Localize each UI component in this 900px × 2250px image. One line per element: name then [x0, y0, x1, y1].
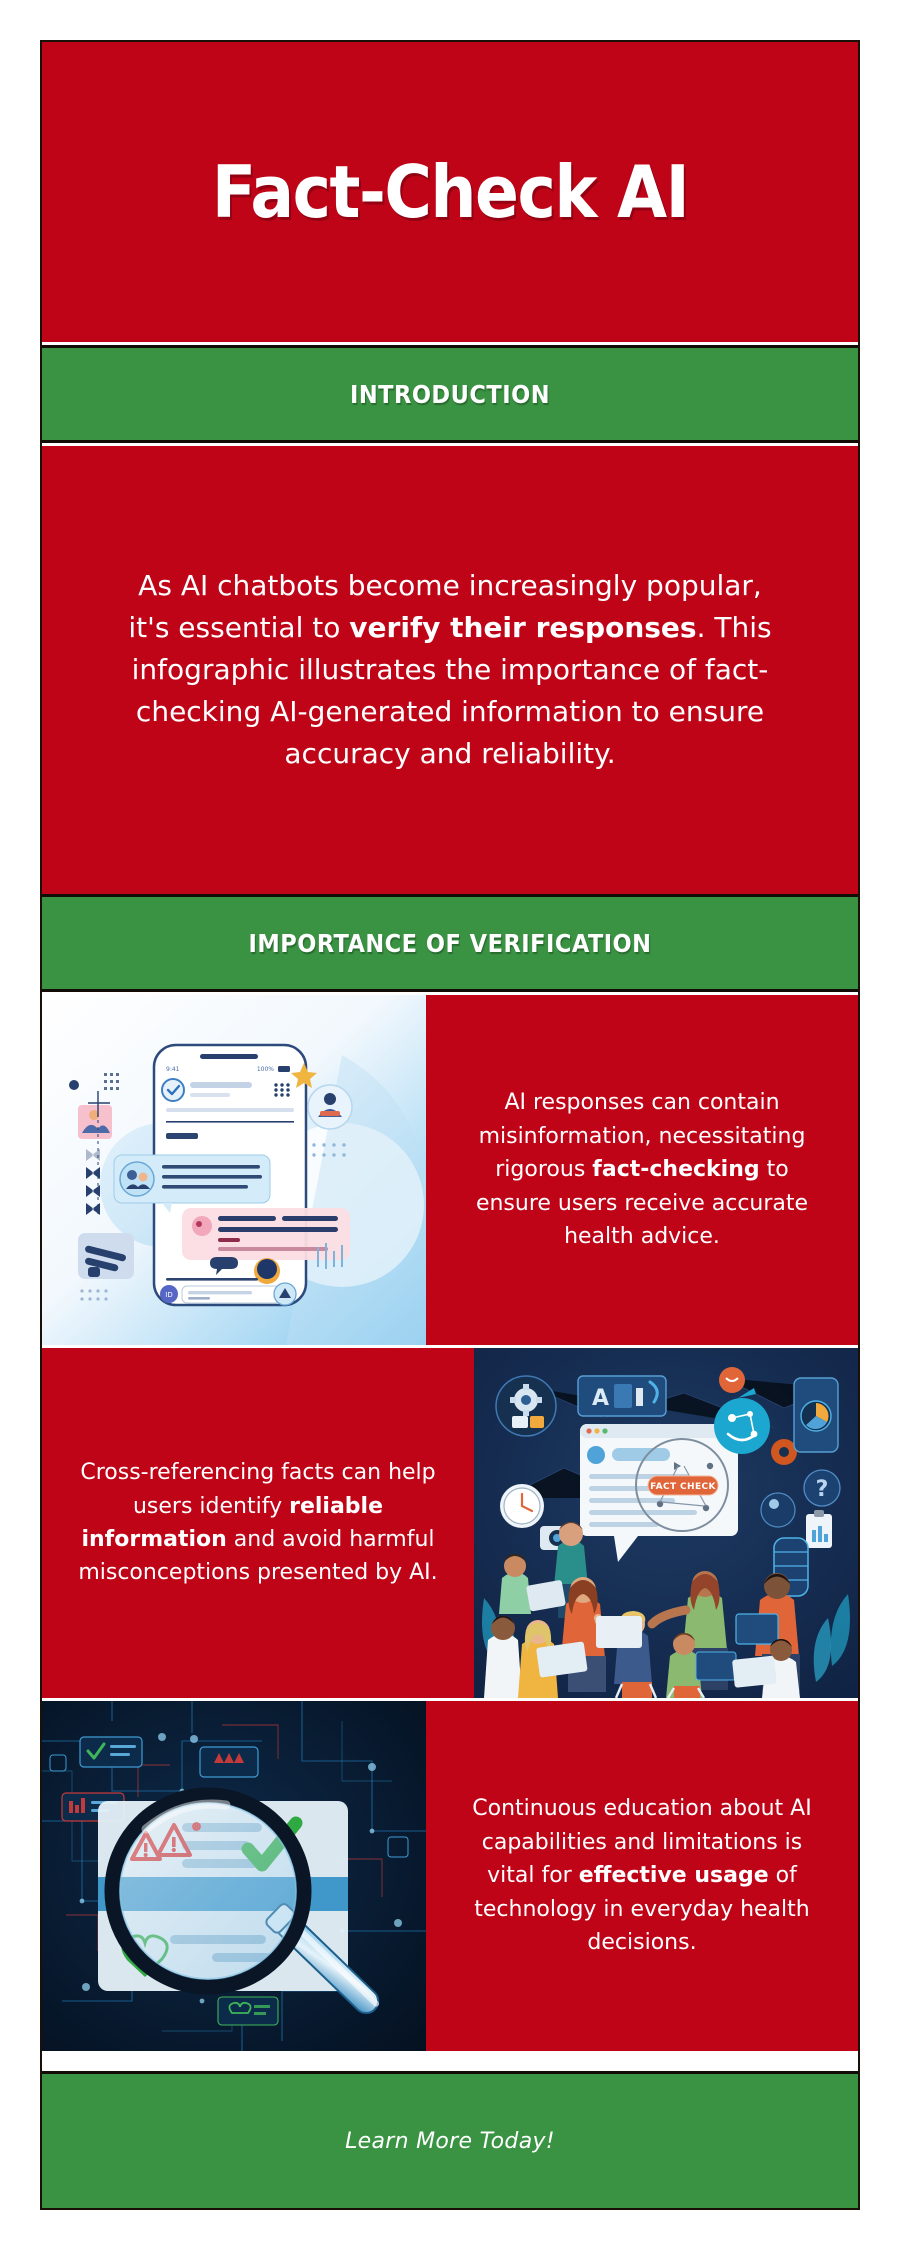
svg-text:A: A [592, 1386, 609, 1411]
cross-referencing-paragraph: Cross-referencing facts can help users i… [78, 1456, 438, 1590]
chatbot-phone-illustration-art: 9:41 100% [42, 995, 426, 1345]
poster-canvas: Fact-Check AI INTRODUCTION As AI chatbot… [42, 42, 858, 2208]
cross-referencing-text-panel: Cross-referencing facts can help users i… [42, 1348, 474, 1698]
content-row-cross-referencing: Cross-referencing facts can help users i… [42, 1348, 858, 1698]
team-fact-check-illustration-art: A [474, 1348, 858, 1698]
chatbot-phone-illustration: 9:41 100% [42, 995, 426, 1345]
section-header-introduction-label: INTRODUCTION [350, 380, 550, 409]
magnifier-verification-illustration-art [42, 1701, 426, 2051]
poster-frame: Fact-Check AI INTRODUCTION As AI chatbot… [40, 40, 860, 2210]
svg-text:100%: 100% [257, 1066, 274, 1073]
education-text-emphasis: effective usage [579, 1863, 769, 1888]
introduction-paragraph: As AI chatbots become increasingly popul… [120, 565, 780, 775]
section-header-importance: IMPORTANCE OF VERIFICATION [42, 894, 858, 992]
education-text-panel: Continuous education about AI capabiliti… [426, 1701, 858, 2051]
svg-text:FACT CHECK: FACT CHECK [650, 1482, 716, 1492]
misinformation-text-panel: AI responses can contain misinformation,… [426, 995, 858, 1345]
education-paragraph: Continuous education about AI capabiliti… [462, 1792, 822, 1959]
team-fact-check-illustration: A [474, 1348, 858, 1698]
svg-text:?: ? [816, 1477, 829, 1502]
content-row-education: Continuous education about AI capabiliti… [42, 1701, 858, 2051]
introduction-panel: As AI chatbots become increasingly popul… [42, 446, 858, 894]
infographic-root: Fact-Check AI INTRODUCTION As AI chatbot… [0, 0, 900, 2250]
section-header-importance-label: IMPORTANCE OF VERIFICATION [249, 929, 652, 958]
footer-cta-band[interactable]: Learn More Today! [42, 2071, 858, 2208]
page-title: Fact-Check AI [212, 156, 688, 228]
section-header-introduction: INTRODUCTION [42, 345, 858, 443]
misinformation-paragraph: AI responses can contain misinformation,… [462, 1086, 822, 1253]
footer-cta-label[interactable]: Learn More Today! [345, 2129, 555, 2154]
hero-banner: Fact-Check AI [42, 42, 858, 342]
introduction-text-emphasis: verify their responses [349, 611, 696, 644]
misinformation-text-emphasis: fact-checking [592, 1157, 759, 1182]
magnifier-verification-illustration [42, 1701, 426, 2051]
content-row-misinformation: 9:41 100% [42, 995, 858, 1345]
svg-text:9:41: 9:41 [166, 1066, 180, 1073]
svg-text:ID: ID [165, 1291, 172, 1299]
